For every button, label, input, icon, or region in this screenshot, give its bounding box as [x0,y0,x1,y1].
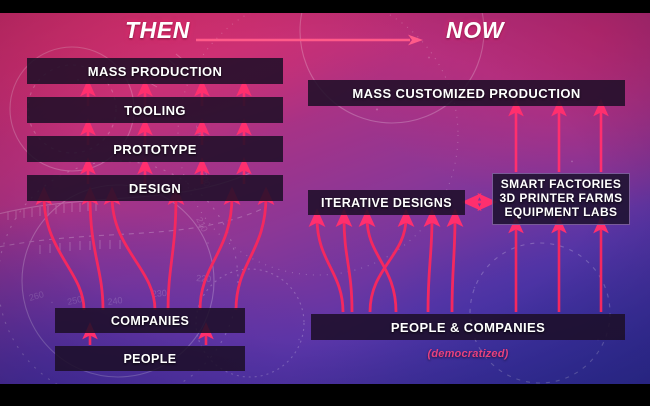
letterbox-bottom [0,384,650,406]
then-box-prototype[interactable]: PROTOTYPE [27,136,283,162]
now-box-capabilities[interactable]: SMART FACTORIES 3D PRINTER FARMS EQUIPME… [492,173,630,225]
then-box-mass-production[interactable]: MASS PRODUCTION [27,58,283,84]
then-box-design[interactable]: DESIGN [27,175,283,201]
now-box-people-and-companies-label: PEOPLE & COMPANIES [391,320,545,335]
then-box-tooling[interactable]: TOOLING [27,97,283,123]
then-box-companies-label: COMPANIES [111,314,189,328]
then-box-companies[interactable]: COMPANIES [55,308,245,333]
now-box-mass-customized-production[interactable]: MASS CUSTOMIZED PRODUCTION [308,80,625,106]
timeline-header: THEN NOW [0,13,650,47]
now-box-iterative-designs[interactable]: ITERATIVE DESIGNS [308,190,465,215]
letterbox-top [0,0,650,13]
then-box-tooling-label: TOOLING [124,103,186,118]
now-box-capabilities-line-1: SMART FACTORIES [501,178,621,192]
now-box-iterative-designs-label: ITERATIVE DESIGNS [321,196,452,210]
right-arrow-icon [196,34,424,46]
now-title: NOW [446,13,504,47]
then-title: THEN [125,13,190,47]
then-box-people[interactable]: PEOPLE [55,346,245,371]
now-box-mass-customized-production-label: MASS CUSTOMIZED PRODUCTION [352,86,580,101]
then-box-design-label: DESIGN [129,181,181,196]
slide-canvas: 260 250 240 230 220 210 200 190 [0,0,650,406]
now-box-capabilities-line-2: 3D PRINTER FARMS [499,192,622,206]
now-box-capabilities-line-3: EQUIPMENT LABS [505,206,618,220]
then-box-mass-production-label: MASS PRODUCTION [88,64,223,79]
democratized-caption: (democratized) [311,348,625,360]
then-box-prototype-label: PROTOTYPE [113,142,197,157]
then-box-people-label: PEOPLE [123,352,176,366]
now-box-people-and-companies[interactable]: PEOPLE & COMPANIES [311,314,625,340]
